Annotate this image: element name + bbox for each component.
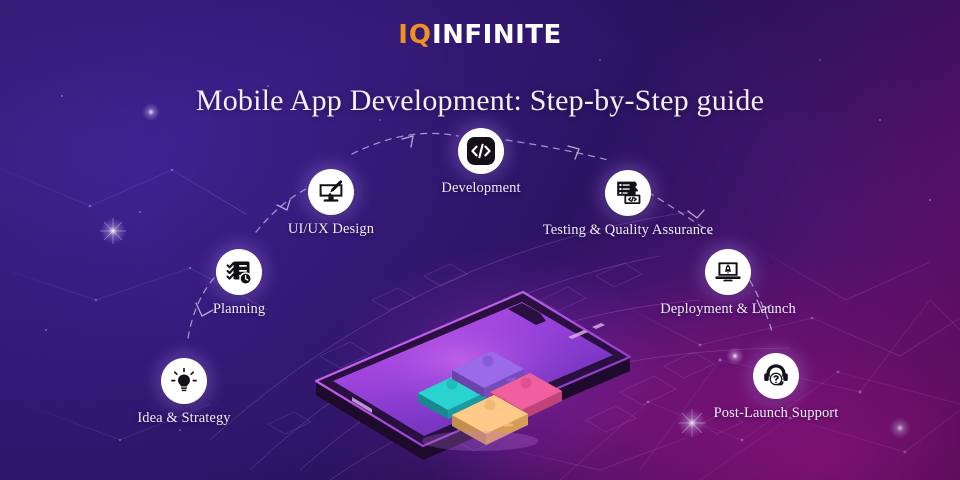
step-deployment-launch[interactable]: Deployment & Launch	[623, 249, 833, 318]
checklist-clock-icon	[216, 249, 262, 295]
rocket-laptop-icon	[705, 249, 751, 295]
step-label: Testing & Quality Assurance	[523, 222, 733, 239]
brand-logo-primary: IQ	[398, 20, 432, 50]
step-label: Deployment & Launch	[623, 301, 833, 318]
step-label: Planning	[134, 301, 344, 318]
step-testing-qa[interactable]: Testing & Quality Assurance	[523, 170, 733, 239]
brand-logo-secondary: INFINITE	[432, 20, 562, 50]
step-planning[interactable]: Planning	[134, 249, 344, 318]
step-idea-strategy[interactable]: Idea & Strategy	[79, 358, 289, 427]
test-report-icon	[605, 170, 651, 216]
phone-illustration	[300, 245, 660, 480]
center-glow	[330, 250, 660, 480]
step-label: UI/UX Design	[226, 221, 436, 238]
page-title: Mobile App Development: Step-by-Step gui…	[0, 84, 960, 118]
code-brackets-icon	[458, 128, 504, 174]
monitor-brush-icon	[308, 169, 354, 215]
infographic-canvas: IQINFINITE Mobile App Development: Step-…	[0, 0, 960, 480]
step-label: Post-Launch Support	[671, 405, 881, 422]
headset-support-icon	[753, 353, 799, 399]
brand-logo[interactable]: IQINFINITE	[0, 20, 960, 50]
lightbulb-icon	[161, 358, 207, 404]
step-post-launch-support[interactable]: Post-Launch Support	[671, 353, 881, 422]
step-label: Idea & Strategy	[79, 410, 289, 427]
